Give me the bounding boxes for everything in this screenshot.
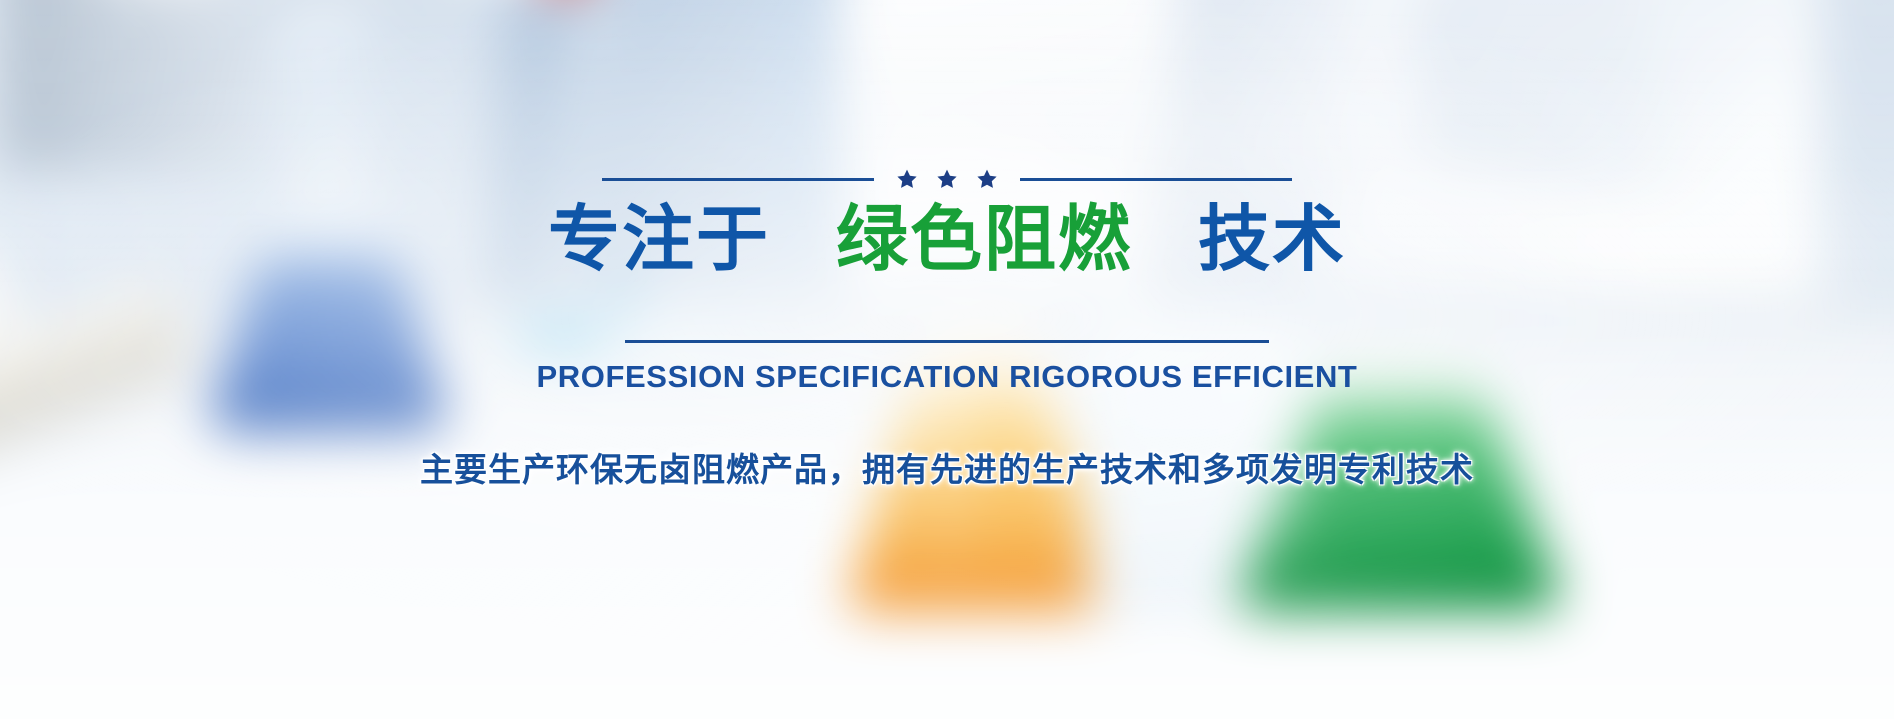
rule-left xyxy=(602,178,874,181)
rule-right xyxy=(1020,178,1292,181)
star-icon xyxy=(976,168,998,190)
banner-content: 专注于 绿色阻燃 技术 PROFESSION SPECIFICATION RIG… xyxy=(0,0,1894,719)
star-icon xyxy=(936,168,958,190)
headline-part-1: 专注于 xyxy=(548,200,770,280)
headline-part-2: 绿色阻燃 xyxy=(836,200,1132,280)
subtitle-english: PROFESSION SPECIFICATION RIGOROUS EFFICI… xyxy=(537,359,1358,395)
headline-part-3: 技术 xyxy=(1198,200,1346,280)
star-icon xyxy=(896,168,918,190)
decorative-rule-row xyxy=(602,168,1292,190)
hero-banner: 专注于 绿色阻燃 技术 PROFESSION SPECIFICATION RIG… xyxy=(0,0,1894,719)
tagline: 主要生产环保无卤阻燃产品，拥有先进的生产技术和多项发明专利技术 xyxy=(420,443,1474,491)
page-title: 专注于 绿色阻燃 技术 xyxy=(548,204,1346,276)
star-group xyxy=(896,168,998,190)
rule-under-title xyxy=(625,340,1269,343)
